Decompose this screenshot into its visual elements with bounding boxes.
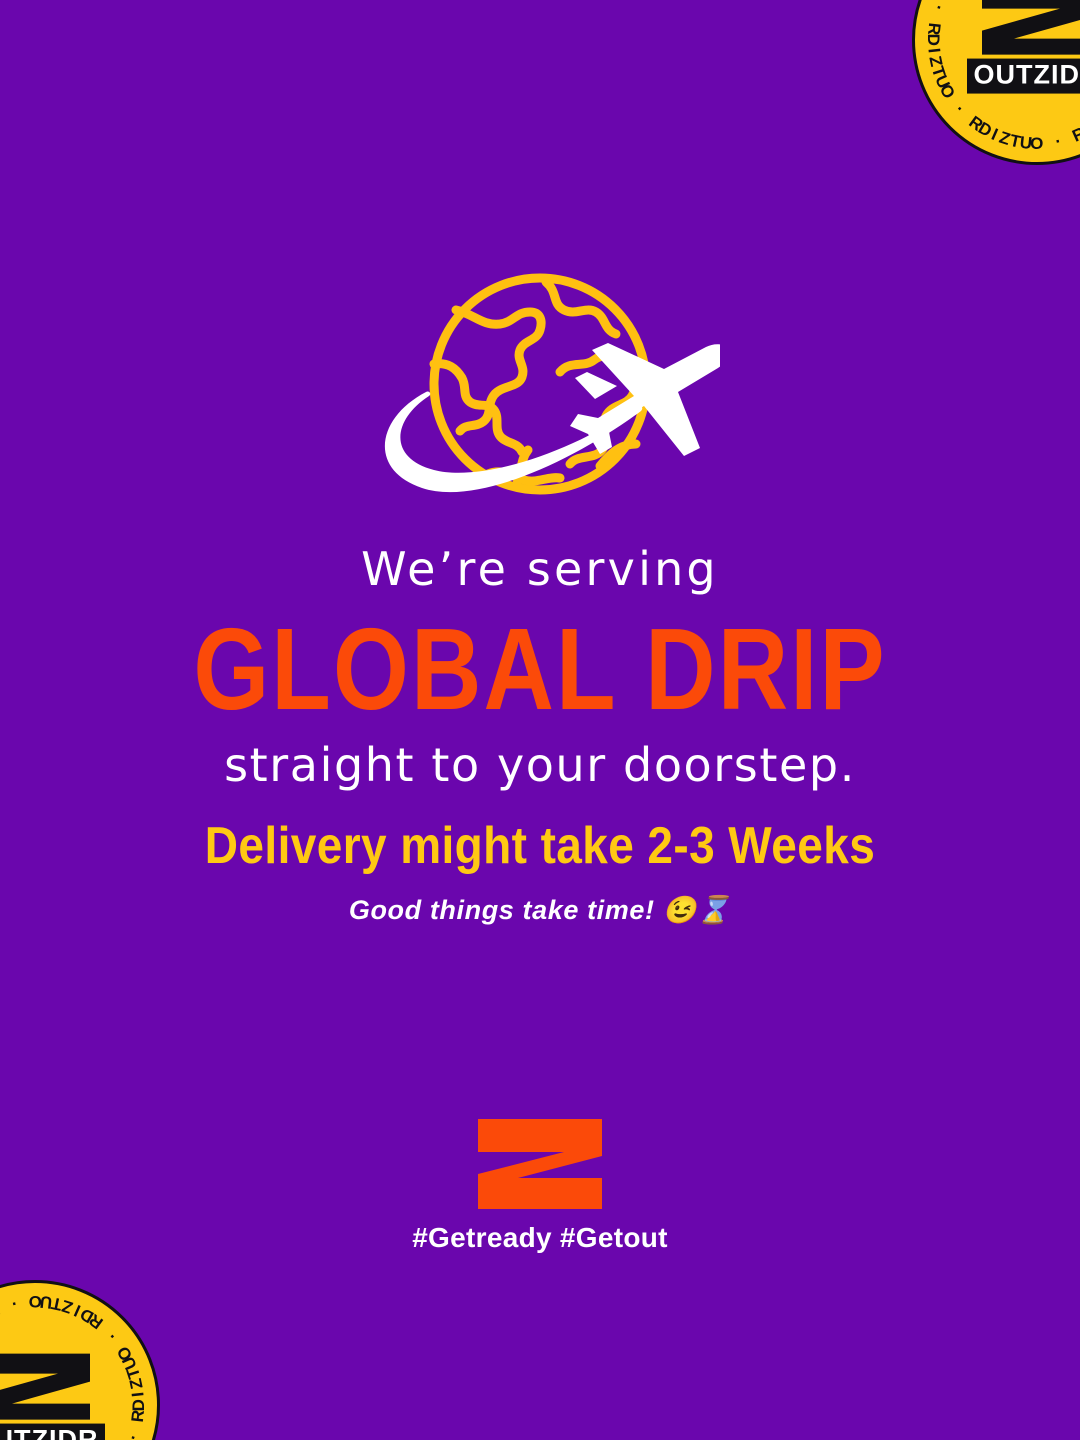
z-monogram-icon: [0, 1352, 94, 1422]
badge-wordmark: OUTZIDR: [0, 1424, 105, 1440]
badge-ring-char: ·: [103, 1326, 122, 1344]
delivery-reassurance-text: Good things take time! 😉⌛: [30, 894, 1050, 926]
subline-text: straight to your doorstep.: [40, 740, 1040, 791]
brand-badge-top-right: OUTZIDR·OUTZIDR·OUTZIDR·OUTZIDR·OUTZIDR·…: [912, 0, 1080, 165]
delivery-notice-block: Delivery might take 2-3 Weeks Good thing…: [0, 820, 1080, 926]
badge-ring-char: R: [128, 1408, 149, 1423]
hashtags-text: #Getready #Getout: [412, 1222, 668, 1254]
badge-ring-char: R: [1069, 123, 1080, 146]
badge-wordmark: OUTZIDR: [967, 59, 1080, 94]
badge-ring-char: I: [923, 47, 943, 54]
globe-with-airplane-icon: [360, 268, 720, 508]
hero-illustration: [0, 268, 1080, 508]
footer-block: #Getready #Getout: [0, 1118, 1080, 1254]
eyebrow-text: We’re serving: [40, 545, 1040, 594]
badge-ring-char: R: [0, 1298, 3, 1321]
badge-ring-char: I: [128, 1390, 148, 1397]
badge-core-bottom-left: OUTZIDR: [0, 1352, 109, 1440]
badge-core-top-right: OUTZIDR: [963, 0, 1080, 93]
z-monogram-icon: [476, 1118, 604, 1210]
badge-ring-char: ·: [928, 2, 949, 14]
headline-block: We’re serving GLOBAL DRIP straight to yo…: [0, 545, 1080, 790]
badge-ring-char: ·: [123, 1431, 144, 1440]
badge-ring-char: ·: [950, 101, 969, 119]
z-monogram-icon: [978, 0, 1080, 57]
promo-poster: OUTZIDR·OUTZIDR·OUTZIDR·OUTZIDR·OUTZIDR·…: [0, 0, 1080, 1440]
delivery-notice-text: Delivery might take 2-3 Weeks: [30, 817, 1050, 875]
badge-ring-char: R: [923, 22, 944, 37]
badge-ring-char: ·: [8, 1293, 18, 1314]
badge-ring-char: ·: [1054, 131, 1064, 152]
brand-badge-bottom-left: OUTZIDR·OUTZIDR·OUTZIDR·OUTZIDR·OUTZIDR·…: [0, 1280, 160, 1440]
headline-text: GLOBAL DRIP: [10, 612, 1070, 730]
